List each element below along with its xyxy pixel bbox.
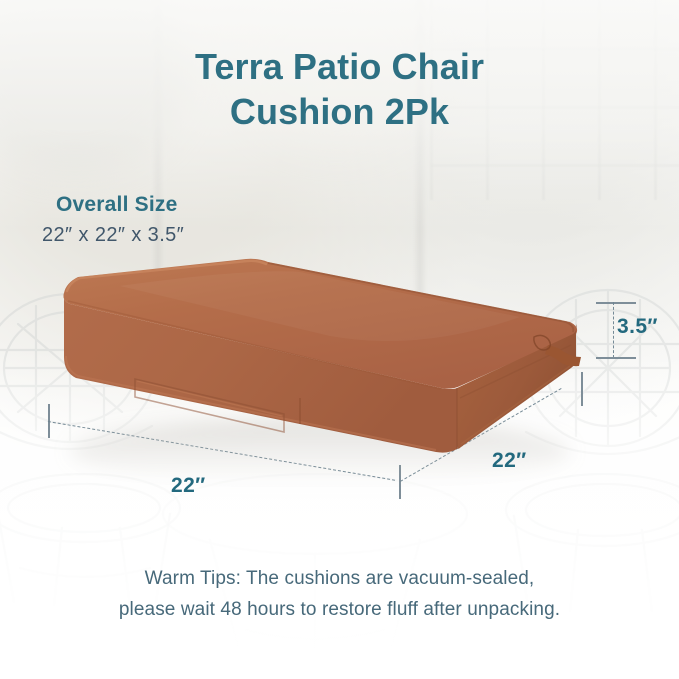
warm-tips-line-2: please wait 48 hours to restore fluff af… bbox=[0, 595, 679, 626]
overall-size-label: Overall Size bbox=[56, 193, 177, 217]
product-image-canvas: Terra Patio Chair Cushion 2Pk Overall Si… bbox=[0, 0, 679, 679]
dimension-label-height: 3.5″ bbox=[617, 315, 658, 339]
warm-tips-note: Warm Tips: The cushions are vacuum-seale… bbox=[0, 564, 679, 626]
overall-size-value: 22″ x 22″ x 3.5″ bbox=[42, 224, 184, 247]
title-line-1: Terra Patio Chair bbox=[195, 46, 484, 87]
dimension-label-width: 22″ bbox=[171, 474, 206, 498]
page-title: Terra Patio Chair Cushion 2Pk bbox=[0, 44, 679, 135]
warm-tips-line-1: Warm Tips: The cushions are vacuum-seale… bbox=[145, 568, 535, 589]
title-line-2: Cushion 2Pk bbox=[0, 89, 679, 134]
dimension-label-depth: 22″ bbox=[492, 449, 527, 473]
